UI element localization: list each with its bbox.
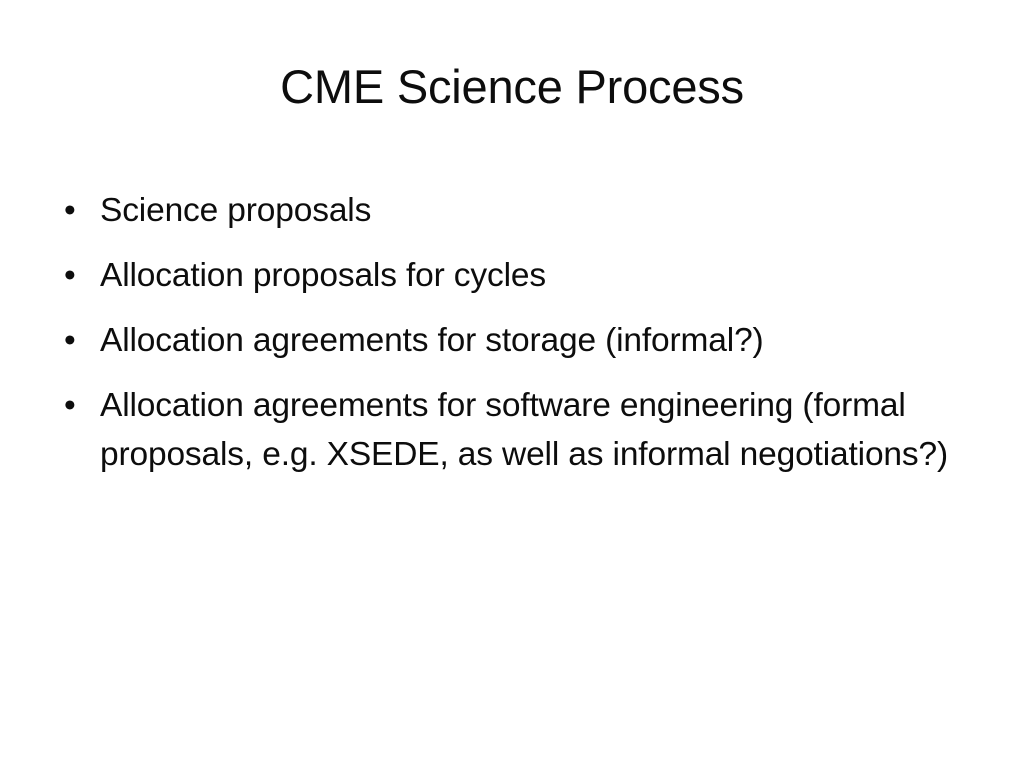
bullet-list: • Science proposals • Allocation proposa… xyxy=(58,186,958,479)
presentation-slide: CME Science Process • Science proposals … xyxy=(0,0,1024,768)
slide-body: • Science proposals • Allocation proposa… xyxy=(58,186,958,479)
list-item-text: Science proposals xyxy=(100,186,958,235)
bullet-point-icon: • xyxy=(64,251,86,300)
bullet-point-icon: • xyxy=(64,381,86,430)
list-item: • Allocation agreements for storage (inf… xyxy=(58,316,958,365)
bullet-point-icon: • xyxy=(64,186,86,235)
list-item: • Allocation proposals for cycles xyxy=(58,251,958,300)
list-item-text: Allocation proposals for cycles xyxy=(100,251,958,300)
bullet-point-icon: • xyxy=(64,316,86,365)
list-item: • Allocation agreements for software eng… xyxy=(58,381,958,479)
page-title: CME Science Process xyxy=(0,60,1024,114)
list-item-text: Allocation agreements for storage (infor… xyxy=(100,316,958,365)
list-item-text: Allocation agreements for software engin… xyxy=(100,381,958,479)
list-item: • Science proposals xyxy=(58,186,958,235)
